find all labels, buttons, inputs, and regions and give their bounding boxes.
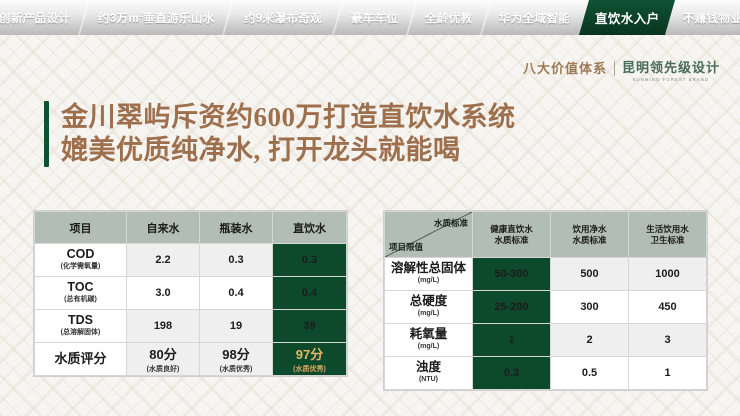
top-navigation-bar[interactable]: 创新产品设计约3万m2垂直游乐山水约9米瀑布奇观豪车车位全龄优教华为全域智能直饮… [0,0,740,35]
nav-tab-label: 创新产品设计 [0,10,71,26]
brand-divider [614,61,615,76]
table-row: 总硬度(mg/L)25-200300450 [385,291,707,324]
row-label-2: 总硬度(mg/L) [385,291,473,324]
table-row: 耗氧量(mg/L)123 [385,324,707,357]
row-label-4: 浊度(NTU) [385,357,473,390]
cell-primary-value: COD [37,248,124,260]
data-cell-r1-c2: 500 [551,258,629,291]
cell-primary-value: TDS [37,314,124,326]
data-cell-r3-c1: 198 [127,310,200,343]
table-right-header-1: 健康直饮水水质标准 [473,212,551,258]
cell-secondary-label: (总溶解固体) [37,327,124,339]
table-right-header-row: 水质标准 项目限值 健康直饮水水质标准饮用净水水质标准生活饮用水卫生标准 [385,212,707,258]
cell-primary-value: 98分 [200,344,272,363]
cell-secondary-label: (mg/L) [387,275,470,287]
data-cell-r3-c3: 39 [273,310,347,343]
cell-secondary-label: (水质良好) [127,364,199,374]
data-cell-r1-c1: 2.2 [127,244,200,277]
cell-secondary-label: (总有机碳) [37,294,124,306]
cell-primary-value: 97分 [273,344,346,363]
table-left-header-4: 直饮水 [273,212,347,244]
table-row-score: 水质评分80分(水质良好)98分(水质优秀)97分(水质优秀) [35,343,347,376]
corner-label-limit: 项目限值 [389,241,423,253]
data-cell-r2-c3: 0.4 [273,277,347,310]
header-line-2: 水质标准 [473,235,550,246]
score-cell-c3: 97分(水质优秀) [273,343,347,376]
nav-tab-4[interactable]: 豪车车位 [333,0,417,35]
nav-tab-6[interactable]: 华为全域智能 [481,0,589,35]
row-label-3: TDS(总溶解固体) [35,310,127,343]
table-left-header-2: 自来水 [127,212,200,244]
nav-tab-label: 约9米瀑布奇观 [244,10,322,26]
nav-tab-3[interactable]: 约9米瀑布奇观 [223,0,342,35]
brand-latin-subtitle: KUNMING FOREST BRAND [633,77,709,82]
nav-tab-label: 不赚钱物业 [683,10,740,26]
data-cell-r2-c2: 0.4 [200,277,273,310]
cell-primary-value: 浊度 [387,361,470,373]
table-left-body: COD(化学需氧量)2.20.30.3TOC(总有机碳)3.00.40.4TDS… [35,244,347,376]
brand-sub-group: 昆明领先级设计 KUNMING FOREST BRAND [622,60,720,82]
cell-secondary-label: (水质优秀) [273,364,346,374]
row-label-1: 溶解性总固体(mg/L) [385,258,473,291]
cell-primary-value: 耗氧量 [387,328,470,340]
data-cell-r1-c1: 50-300 [473,258,551,291]
table-right-corner-header: 水质标准 项目限值 [385,212,473,258]
table-right-header-3: 生活饮用水卫生标准 [629,212,707,258]
score-cell-c2: 98分(水质优秀) [200,343,273,376]
row-label-1: COD(化学需氧量) [35,244,127,277]
table-row: 溶解性总固体(mg/L)50-3005001000 [385,258,707,291]
data-cell-r2-c2: 300 [551,291,629,324]
table-right-header-2: 饮用净水水质标准 [551,212,629,258]
data-cell-r4-c2: 0.5 [551,357,629,390]
nav-tab-8[interactable]: 不赚钱物业 [665,0,740,35]
headline-accent-bar [44,101,49,167]
water-comparison-table: 项目自来水瓶装水直饮水 COD(化学需氧量)2.20.30.3TOC(总有机碳)… [34,211,347,376]
table-left-header-row: 项目自来水瓶装水直饮水 [35,212,347,244]
cell-secondary-label: (NTU) [387,374,470,386]
cell-primary-value: 总硬度 [387,295,470,307]
row-label-3: 耗氧量(mg/L) [385,324,473,357]
table-row: TDS(总溶解固体)1981939 [35,310,347,343]
header-line-2: 卫生标准 [629,235,706,246]
brand-subtitle: 昆明领先级设计 [622,60,720,76]
row-label-2: TOC(总有机碳) [35,277,127,310]
cell-secondary-label: (化学需氧量) [37,261,124,273]
data-cell-r2-c3: 450 [629,291,707,324]
table-left-header-1: 项目 [35,212,127,244]
data-cell-r1-c3: 0.3 [273,244,347,277]
data-cell-r2-c1: 25-200 [473,291,551,324]
table-row: TOC(总有机碳)3.00.40.4 [35,277,347,310]
table-row: 浊度(NTU)0.30.51 [385,357,707,390]
cell-primary-value: 水质评分 [37,353,124,365]
data-cell-r1-c2: 0.3 [200,244,273,277]
water-standards-table: 水质标准 项目限值 健康直饮水水质标准饮用净水水质标准生活饮用水卫生标准 溶解性… [384,211,707,390]
table-left-head: 项目自来水瓶装水直饮水 [35,212,347,244]
nav-tab-label: 约3万m2垂直游乐山水 [98,10,215,26]
nav-tab-label: 直饮水入户 [595,8,660,27]
header-line-1: 饮用净水 [551,224,628,235]
headline-line-1: 金川翠屿斥资约600万打造直饮水系统 [61,101,516,134]
row-label-score: 水质评分 [35,343,127,376]
headline-text: 金川翠屿斥资约600万打造直饮水系统 媲美优质纯净水, 打开龙头就能喝 [61,101,516,167]
nav-tab-7-active[interactable]: 直饮水入户 [579,0,675,35]
table-right-body: 溶解性总固体(mg/L)50-3005001000总硬度(mg/L)25-200… [385,258,707,390]
cell-secondary-label: (水质优秀) [200,364,272,374]
nav-tab-label: 豪车车位 [351,10,399,26]
data-cell-r3-c3: 3 [629,324,707,357]
data-cell-r3-c2: 2 [551,324,629,357]
header-line-2: 水质标准 [551,235,628,246]
cell-primary-value: TOC [37,281,124,293]
cell-secondary-label: (mg/L) [387,341,470,353]
data-cell-r4-c1: 0.3 [473,357,551,390]
cell-primary-value: 溶解性总固体 [387,262,470,274]
table-left-header-3: 瓶装水 [200,212,273,244]
data-cell-r3-c2: 19 [200,310,273,343]
brand-main-title: 八大价值体系 [523,60,607,77]
nav-tab-1[interactable]: 创新产品设计 [0,0,89,35]
brand-lockup: 八大价值体系 昆明领先级设计 KUNMING FOREST BRAND [523,60,720,82]
score-cell-c1: 80分(水质良好) [127,343,200,376]
headline-block: 金川翠屿斥资约600万打造直饮水系统 媲美优质纯净水, 打开龙头就能喝 [44,101,516,167]
nav-tab-label: 全龄优教 [425,10,473,26]
data-cell-r3-c1: 1 [473,324,551,357]
cell-secondary-label: (mg/L) [387,308,470,320]
headline-line-2: 媲美优质纯净水, 打开龙头就能喝 [61,134,516,167]
nav-tab-5[interactable]: 全龄优教 [407,0,491,35]
header-line-1: 生活饮用水 [629,224,706,235]
data-cell-r2-c1: 3.0 [127,277,200,310]
table-right-head: 水质标准 项目限值 健康直饮水水质标准饮用净水水质标准生活饮用水卫生标准 [385,212,707,258]
header-line-1: 健康直饮水 [473,224,550,235]
nav-tab-2[interactable]: 约3万m2垂直游乐山水 [79,0,234,35]
data-cell-r4-c3: 1 [629,357,707,390]
corner-label-standard: 水质标准 [434,217,468,229]
cell-primary-value: 80分 [127,344,199,363]
data-cell-r1-c3: 1000 [629,258,707,291]
table-row: COD(化学需氧量)2.20.30.3 [35,244,347,277]
nav-tab-label: 华为全域智能 [499,10,570,26]
